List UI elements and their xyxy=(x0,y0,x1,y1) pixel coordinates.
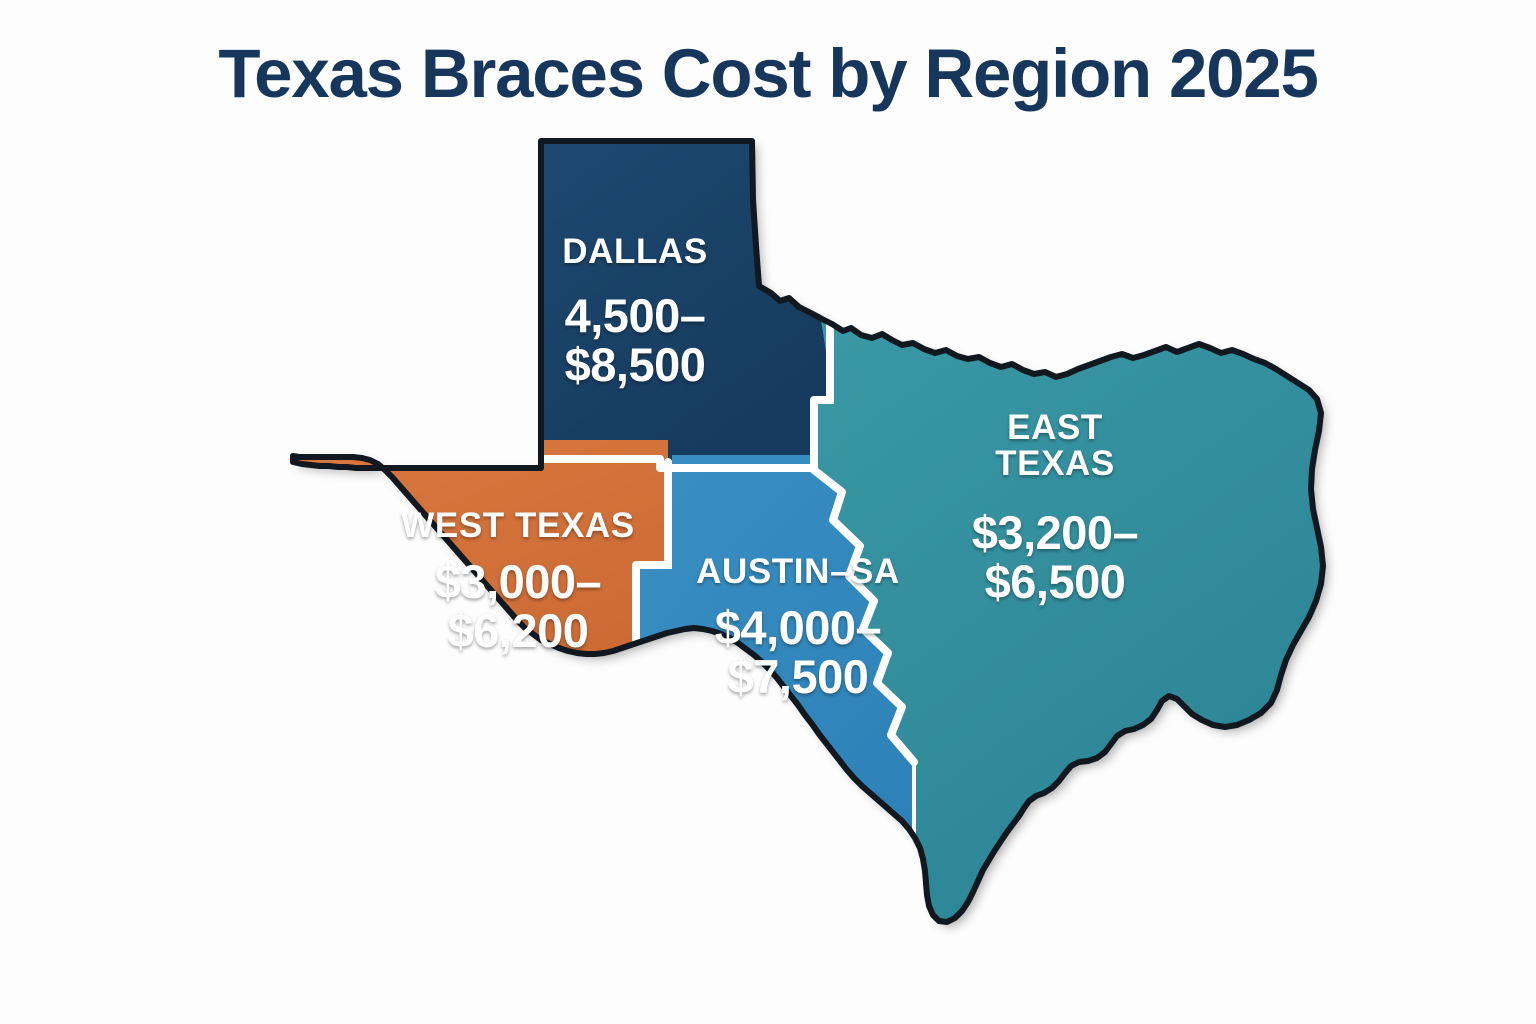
texas-map: DALLAS 4,500– $8,500 WEST TEXAS $3,000– … xyxy=(0,0,1536,1024)
texas-map-svg xyxy=(0,0,1536,1024)
region-dallas[interactable] xyxy=(520,120,830,468)
region-east-texas[interactable] xyxy=(816,300,1400,1010)
infographic-root: Texas Braces Cost by Region 2025 xyxy=(0,0,1536,1024)
region-west-texas[interactable] xyxy=(250,440,668,700)
region-fills xyxy=(250,120,1400,1010)
